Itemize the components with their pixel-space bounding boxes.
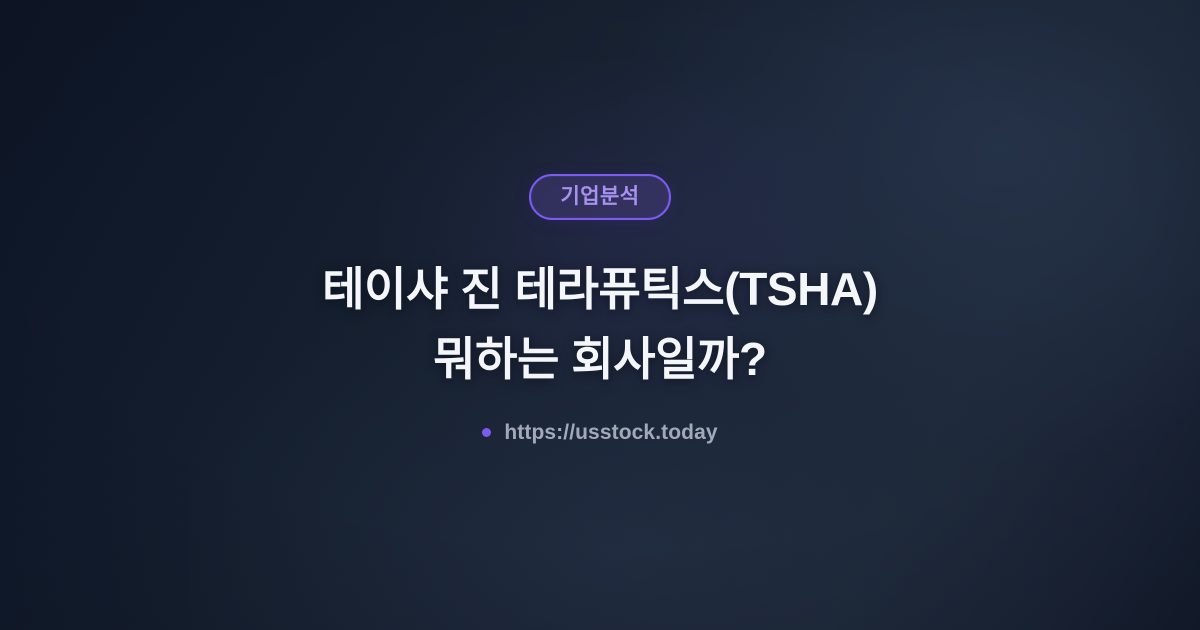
- og-share-card: 기업분석 테이샤 진 테라퓨틱스(TSHA) 뭐하는 회사일까? https:/…: [0, 0, 1200, 630]
- category-badge-label: 기업분석: [561, 186, 640, 207]
- card-content: 기업분석 테이샤 진 테라퓨틱스(TSHA) 뭐하는 회사일까? https:/…: [0, 0, 1200, 630]
- site-url-label: https://usstock.today: [504, 422, 717, 443]
- dot-icon: [482, 428, 491, 437]
- page-title-line-1: 테이샤 진 테라퓨틱스(TSHA): [80, 254, 1120, 324]
- page-title: 테이샤 진 테라퓨틱스(TSHA) 뭐하는 회사일까?: [80, 254, 1120, 394]
- site-url-row: https://usstock.today: [482, 422, 717, 443]
- category-badge: 기업분석: [529, 174, 672, 220]
- page-title-line-2: 뭐하는 회사일까?: [80, 324, 1120, 394]
